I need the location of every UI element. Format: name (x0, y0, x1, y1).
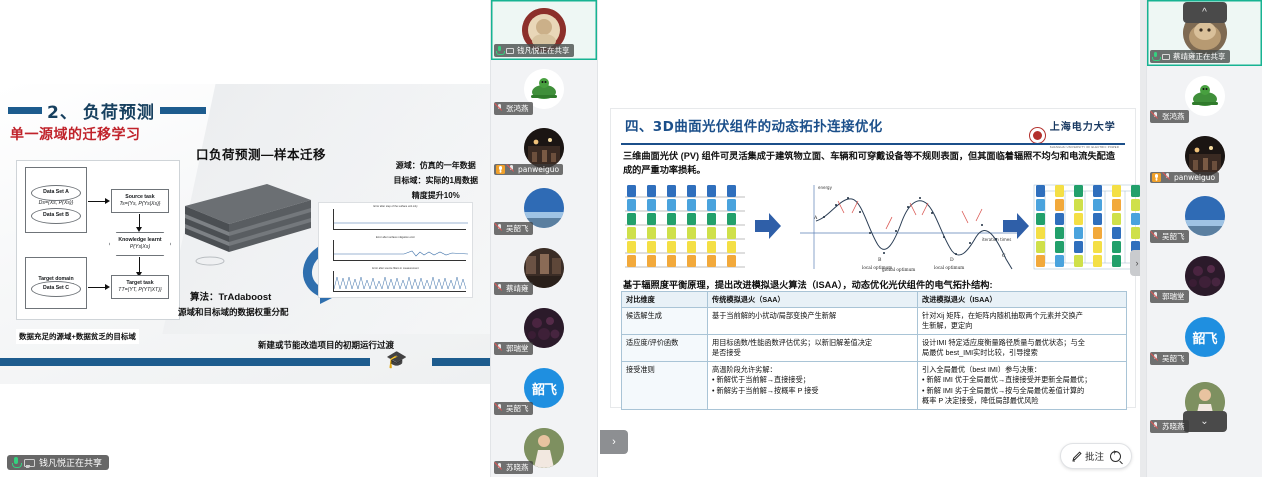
right-slide-header: 四、3D曲面光伏组件的动态拓扑连接优化 上海电力大学 SHANGHAI UNIV… (625, 115, 1125, 143)
flow-dataset-a: Data Set A (31, 185, 81, 201)
participant-name-chip: 吴韶飞 (494, 402, 533, 415)
avatar-initials: 韶飞 (532, 379, 556, 398)
avatar: 韶飞 (1185, 317, 1225, 357)
avatar-image (1185, 256, 1225, 296)
flow-arrow-4 (88, 287, 106, 288)
mic-muted-icon (1152, 354, 1159, 363)
avatar-image (1185, 196, 1225, 236)
participant-tile[interactable]: 韶飞 吴韶飞 (491, 358, 597, 418)
left-slide-footer (0, 358, 490, 366)
row-saa: 高温阶段允许劣解： • 新解优于当前解→直接接受； • 新解劣于当前解→按概率 … (708, 362, 918, 410)
participant-name: 吴韶飞 (1162, 353, 1185, 364)
topology-optimization-diagram: energy iteration times (621, 181, 1127, 273)
graduation-cap-icon: 🎓 (386, 350, 407, 370)
mic-on-icon (1152, 52, 1159, 61)
annotate-button[interactable]: 批注 (1071, 449, 1104, 463)
right-slide-canvas: 四、3D曲面光伏组件的动态拓扑连接优化 上海电力大学 SHANGHAI UNIV… (610, 108, 1136, 408)
mic-muted-icon (508, 165, 515, 174)
header-rule (621, 143, 1125, 145)
participant-tile[interactable]: 苏晓燕 (491, 418, 597, 477)
participant-tile[interactable]: 吴韶飞 (1147, 186, 1262, 246)
participant-tile[interactable]: ⌄ 苏晓燕 (1147, 368, 1262, 436)
host-badge-icon (1152, 173, 1161, 182)
arrow-right-2-icon (1003, 211, 1029, 241)
curve-point-a: A (813, 215, 818, 221)
row-isaa: 引入全局最优（best IMI）参与决策： • 新解 IMI 优于全局最优→直接… (918, 362, 1127, 410)
error-plot-1: Error after step of the surface unit onl… (321, 205, 470, 235)
row-isaa: 针对Xij 矩阵，在矩阵内随机抽取两个元素并交换产 生新解，更定向 (918, 308, 1127, 335)
avatar (1185, 196, 1225, 236)
mic-muted-icon (496, 404, 503, 413)
flow-knowledge-learnt: Knowledge learnt P(Ys|Xs) (109, 232, 171, 256)
pv-grid-optimized (1031, 183, 1146, 271)
participant-name: 钱凡悦正在共享 (517, 45, 570, 56)
flow-arrowhead-1 (105, 198, 110, 204)
col-header-dimension: 对比维度 (622, 292, 708, 308)
participant-tile[interactable]: 郭瑞堂 (491, 298, 597, 358)
comparison-table: 对比维度 传统模拟退火（SAA） 改进模拟退火（ISAA） 候选解生成 基于当前… (621, 291, 1127, 410)
expand-left-panel-handle[interactable]: › (600, 430, 628, 454)
footer-bar-left (0, 358, 370, 366)
avatar (1185, 76, 1225, 116)
mic-muted-icon (1152, 112, 1159, 121)
row-dimension: 候选解生成 (622, 308, 708, 335)
note-line-1: 源域：仿真的一年数据 (394, 158, 478, 173)
table-row: 候选解生成 基于当前解的小扰动/局部变换产生新解 针对Xij 矩阵，在矩阵内随机… (622, 308, 1127, 335)
collapse-up-button[interactable]: ^ (1183, 2, 1227, 23)
participant-name: panweiguo (518, 165, 559, 174)
university-name: 上海电力大学 (1050, 122, 1116, 133)
mic-muted-icon (1152, 232, 1159, 241)
col-header-isaa: 改进模拟退火（ISAA） (918, 292, 1127, 308)
participant-name-chip: 吴韶飞 (1150, 352, 1189, 365)
collapse-down-button[interactable]: ⌄ (1183, 411, 1227, 432)
transfer-learning-flow-diagram: Source domain Ds={Xs, P(Xs)} Data Set A … (16, 160, 180, 320)
participant-name-chip: panweiguo (494, 164, 563, 175)
row-isaa: 设计IMI 特定适应度衡量路径质量与最优状态；与全 局最优 best_IMI实时… (918, 335, 1127, 362)
left-slide-title-bar: 2、 负荷预测 (8, 98, 206, 123)
mic-on-icon (496, 46, 503, 55)
mic-on-icon (11, 457, 20, 468)
energy-curve-chart: energy iteration times (796, 181, 1026, 273)
error-plot-2: Error after surface mitigation error (321, 236, 470, 266)
pv-grid-initial-svg (621, 183, 749, 271)
university-logo: 上海电力大学 SHANGHAI UNIVERSITY OF ELECTRIC P… (1029, 117, 1119, 153)
mic-muted-icon (1152, 292, 1159, 301)
participant-name-chip: 吴韶飞 (1150, 230, 1189, 243)
participant-name: 吴韶飞 (506, 223, 529, 234)
participant-name: 蔡靖雍正在共享 (1173, 51, 1226, 62)
left-slide-center-title: 口负荷预测—样本迁移 (196, 144, 326, 163)
left-slide-bottom-note: 新建或节能改造项目的初期运行过渡 (258, 339, 394, 351)
host-badge-icon (496, 165, 505, 174)
error-plot-1-series (334, 213, 468, 231)
flow-arrow-1 (88, 201, 106, 202)
error-plot-2-title: Error after surface mitigation error (321, 236, 470, 239)
pen-icon (1071, 451, 1082, 462)
participant-name-chip: 蔡靖雍正在共享 (1150, 50, 1230, 63)
participant-name-chip: 钱凡悦正在共享 (494, 44, 574, 57)
mic-muted-icon (496, 463, 503, 472)
title-dash-left (8, 107, 42, 114)
error-plot-3-series (334, 273, 468, 293)
seal-icon (1029, 127, 1046, 144)
flow-dataset-b: Data Set B (31, 208, 81, 224)
avatar-image (1185, 136, 1225, 176)
right-slide-lead-text: 三维曲面光伏 (PV) 组件可灵活集成于建筑物立面、车辆和可穿戴设备等不规则表面… (623, 149, 1123, 178)
error-plot-1-title: Error after step of the surface unit onl… (321, 205, 470, 208)
error-plot-2-series (334, 244, 468, 262)
participant-tile[interactable]: 韶飞 吴韶飞 (1147, 306, 1262, 368)
row-saa: 用目标函数/性能函数评估优劣；以新旧解差值决定 是否接受 (708, 335, 918, 362)
flow-arrow-2 (139, 214, 140, 228)
participant-tile[interactable]: panweiguo (491, 118, 597, 178)
pv-grid-initial (621, 183, 749, 271)
mic-muted-icon (496, 344, 503, 353)
table-row: 适应度/评价函数 用目标函数/性能函数评估优劣；以新旧解差值决定 是否接受 设计… (622, 335, 1127, 362)
energy-curve-svg: energy iteration times (796, 181, 1026, 273)
participant-name-chip: 张鸿燕 (1150, 110, 1189, 123)
error-plots-group: Error after step of the surface unit onl… (318, 202, 473, 298)
curve-point-d: D (950, 257, 954, 263)
participant-tile[interactable]: 张鸿燕 (1147, 66, 1262, 126)
participant-tile[interactable]: 钱凡悦正在共享 (491, 0, 597, 60)
curve-global-optimum-label: global optimum (882, 267, 915, 272)
participant-tile[interactable]: 蔡靖雍 (491, 238, 597, 298)
participant-name-chip: 蔡靖雍 (494, 282, 533, 295)
participant-name-chip: 苏晓燕 (1150, 420, 1189, 433)
participant-name: 张鸿燕 (506, 103, 529, 114)
participant-tile[interactable]: 吴韶飞 (491, 178, 597, 238)
flow-source-task: Source task Ts={Ys, P(Ys|Xs)} (111, 189, 169, 213)
participant-name: 张鸿燕 (1162, 111, 1185, 122)
screen-share-icon (1162, 54, 1170, 60)
participant-tile[interactable]: 郭瑞堂 (1147, 246, 1262, 306)
participant-strip-left[interactable]: 钱凡悦正在共享 张鸿燕 (490, 0, 598, 477)
participant-tile[interactable]: 张鸿燕 (491, 60, 597, 118)
participant-tile[interactable]: ^ 蔡靖雍正在共享 (1147, 0, 1262, 66)
participant-name-chip: 郭瑞堂 (494, 342, 533, 355)
participant-name: 苏晓燕 (1162, 421, 1185, 432)
curve-point-c: C (1002, 253, 1006, 259)
row-dimension: 适应度/评价函数 (622, 335, 708, 362)
error-plot-3: Error after source filters in measuremen… (321, 267, 470, 297)
left-slide-section-number: 2、 (47, 98, 78, 123)
left-slide-subtitle: 单一源域的迁移学习 (10, 124, 141, 144)
left-slide-caption: 数据充足的源域+数据贫乏的目标域 (16, 329, 139, 344)
chevron-down-icon: ⌄ (1200, 416, 1208, 427)
table-header-row: 对比维度 传统模拟退火（SAA） 改进模拟退火（ISAA） (622, 292, 1127, 308)
participant-name-chip: 张鸿燕 (494, 102, 533, 115)
table-row: 接受准则 高温阶段允许劣解： • 新解优于当前解→直接接受； • 新解劣于当前解… (622, 362, 1127, 410)
avatar (1185, 256, 1225, 296)
participant-name-chip: 苏晓燕 (494, 461, 533, 474)
participant-tile[interactable]: panweiguo (1147, 126, 1262, 186)
svg-text:energy: energy (818, 185, 833, 190)
participant-name: 郭瑞堂 (1162, 291, 1185, 302)
footer-bar-right (432, 358, 490, 366)
annotate-label: 批注 (1085, 449, 1104, 463)
participant-name: 郭瑞堂 (506, 343, 529, 354)
sharing-status-chip: 钱凡悦正在共享 (7, 455, 109, 470)
flow-arrowhead-4 (105, 284, 110, 290)
left-slide-canvas: 2、 负荷预测 单一源域的迁移学习 口负荷预测—样本迁移 Source doma… (0, 84, 490, 384)
share-toolbar[interactable]: 批注 (1060, 443, 1132, 469)
flow-arrowhead-2 (136, 227, 142, 232)
sharing-status-label: 钱凡悦正在共享 (39, 456, 102, 469)
participant-name: 吴韶飞 (506, 403, 529, 414)
col-header-saa: 传统模拟退火（SAA） (708, 292, 918, 308)
row-saa: 基于当前解的小扰动/局部变换产生新解 (708, 308, 918, 335)
chevron-up-icon: ^ (1202, 7, 1207, 18)
note-line-2: 目标域：实际的1周数据 (394, 173, 478, 188)
participant-name-chip: 吴韶飞 (494, 222, 533, 235)
flow-target-task: Target task TT={YT, P(YT|XT)} (111, 275, 169, 299)
mic-muted-icon (496, 284, 503, 293)
left-shared-screen[interactable]: 2、 负荷预测 单一源域的迁移学习 口负荷预测—样本迁移 Source doma… (0, 0, 490, 477)
left-slide-title: 负荷预测 (83, 98, 155, 123)
mic-muted-icon (496, 104, 503, 113)
arrow-right-1-icon (755, 211, 781, 241)
participant-name: 苏晓燕 (506, 462, 529, 473)
svg-text:local optimum: local optimum (934, 265, 964, 270)
title-dash-right (160, 107, 206, 114)
flow-source-domain-formula: Ds={Xs, P(Xs)} (39, 200, 74, 207)
chevron-right-icon: › (612, 436, 616, 448)
avatar (524, 128, 564, 168)
right-shared-screen[interactable]: 四、3D曲面光伏组件的动态拓扑连接优化 上海电力大学 SHANGHAI UNIV… (600, 0, 1146, 477)
participant-name: panweiguo (1174, 173, 1215, 182)
error-plot-3-title: Error after source filters in measuremen… (321, 267, 470, 270)
flow-arrow-3 (139, 257, 140, 273)
participant-name: 蔡靖雍 (506, 283, 529, 294)
flow-dataset-c: Data Set C (31, 281, 81, 297)
mic-muted-icon (1164, 173, 1171, 182)
pv-grid-optimized-svg (1031, 183, 1146, 271)
screen-share-icon (506, 48, 514, 54)
participant-name-chip: panweiguo (1150, 172, 1219, 183)
chevron-right-icon: › (1136, 258, 1139, 268)
zoom-in-icon[interactable] (1110, 451, 1121, 462)
left-slide-algorithm-desc: 源域和目标域的数据权重分配 (178, 306, 289, 318)
avatar (1185, 136, 1225, 176)
mic-muted-icon (496, 224, 503, 233)
participant-name: 吴韶飞 (1162, 231, 1185, 242)
curve-point-b: B (878, 257, 882, 263)
left-slide-algorithm-label: 算法：TrAdaboost (190, 289, 271, 303)
left-slide-notes: 源域：仿真的一年数据 目标域：实际的1周数据 精度提升10% (394, 158, 478, 204)
mic-muted-icon (1152, 422, 1159, 431)
right-slide-subheading: 基于辐照度平衡原理，提出改进模拟退火算法（ISAA），动态优化光伏组件的电气拓扑… (623, 277, 993, 291)
participant-strip-right[interactable]: ^ 蔡靖雍正在共享 张鸿燕 (1146, 0, 1262, 477)
row-dimension: 接受准则 (622, 362, 708, 410)
avatar-initials: 韶飞 (1192, 328, 1216, 347)
screen-share-icon (24, 459, 35, 467)
avatar-image (524, 128, 564, 168)
participant-name-chip: 郭瑞堂 (1150, 290, 1189, 303)
avatar-image (1185, 76, 1225, 116)
